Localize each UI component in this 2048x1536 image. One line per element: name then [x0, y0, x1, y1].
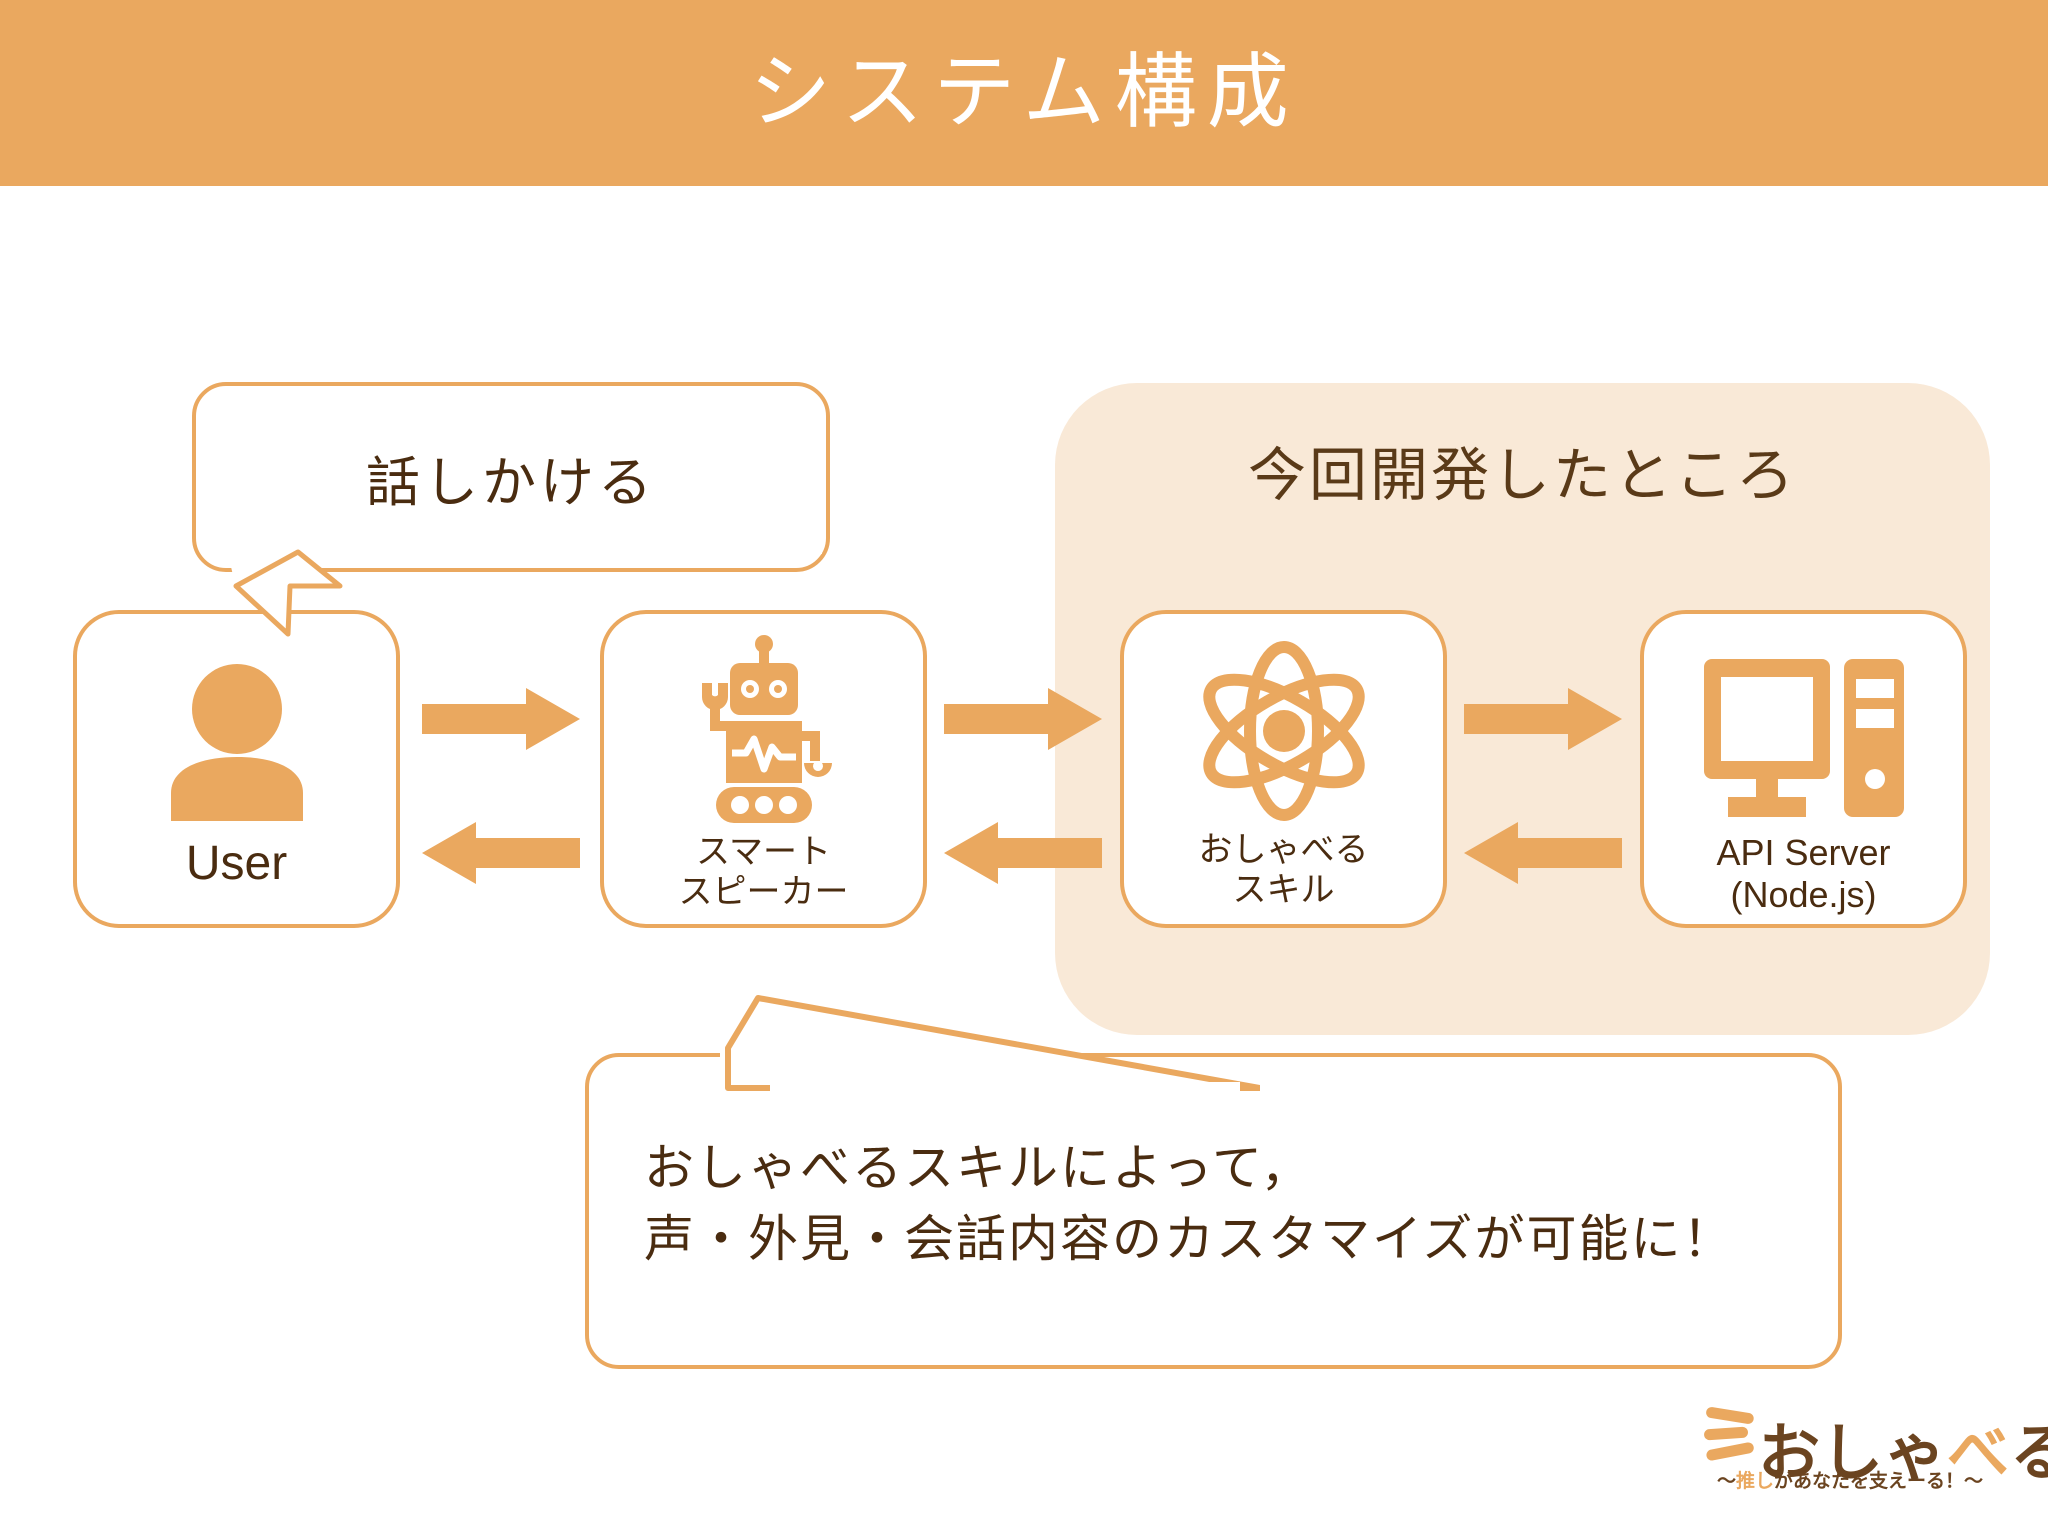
speech-bubble-bottom: おしゃべるスキルによって， 声・外見・会話内容のカスタマイズが可能に！	[585, 1053, 1842, 1369]
node-box-api-server[interactable]: API Server (Node.js)	[1640, 610, 1967, 928]
node-box-oshaberu-skill[interactable]: おしゃべる スキル	[1120, 610, 1447, 928]
logo-tagline-open: 〜	[1717, 1471, 1736, 1492]
speech-bubble-bottom-text: おしゃべるスキルによって， 声・外見・会話内容のカスタマイズが可能に！	[644, 1133, 1735, 1275]
arrow-user-to-speaker	[422, 688, 580, 750]
node-label-user: User	[77, 836, 396, 893]
node-box-user[interactable]: User	[73, 610, 400, 928]
speech-bubble-tail-top	[180, 548, 830, 640]
arrow-speaker-to-skill	[944, 688, 1102, 750]
logo-word-suffix: る	[2010, 1419, 2048, 1488]
arrow-skill-to-api	[1464, 688, 1622, 750]
page-title: システム構成	[0, 0, 2048, 186]
arrow-skill-to-speaker	[944, 822, 1102, 884]
logo-tagline: 〜推しがあなたを支えーる！〜	[1700, 1466, 2000, 1493]
node-label-oshaberu-skill: おしゃべる スキル	[1124, 830, 1443, 910]
atom-icon	[1124, 638, 1443, 824]
arrow-api-to-skill	[1464, 822, 1622, 884]
logo-tagline-close: 〜	[1964, 1471, 1983, 1492]
node-box-smart-speaker[interactable]: スマート スピーカー	[600, 610, 927, 928]
arrow-speaker-to-user	[422, 822, 580, 884]
logo-tagline-rest: があなたを支えーる！	[1774, 1471, 1964, 1492]
desktop-server-icon	[1644, 652, 1963, 822]
logo-mark-icon	[1700, 1406, 1760, 1462]
person-icon	[77, 656, 396, 826]
speech-bubble-top: 話しかける	[192, 382, 830, 572]
node-label-api-server: API Server (Node.js)	[1644, 832, 1963, 917]
node-label-smart-speaker: スマート スピーカー	[604, 832, 923, 912]
developed-region-label: 今回開発したところ	[1055, 428, 1990, 512]
logo-tagline-accent: 推し	[1736, 1471, 1774, 1492]
speech-bubble-tail-bottom	[560, 990, 1260, 1100]
robot-icon	[604, 634, 923, 824]
speech-bubble-top-text: 話しかける	[196, 386, 826, 568]
oshaberu-logo: おしゃべる 〜推しがあなたを支えーる！〜	[1700, 1402, 2020, 1518]
